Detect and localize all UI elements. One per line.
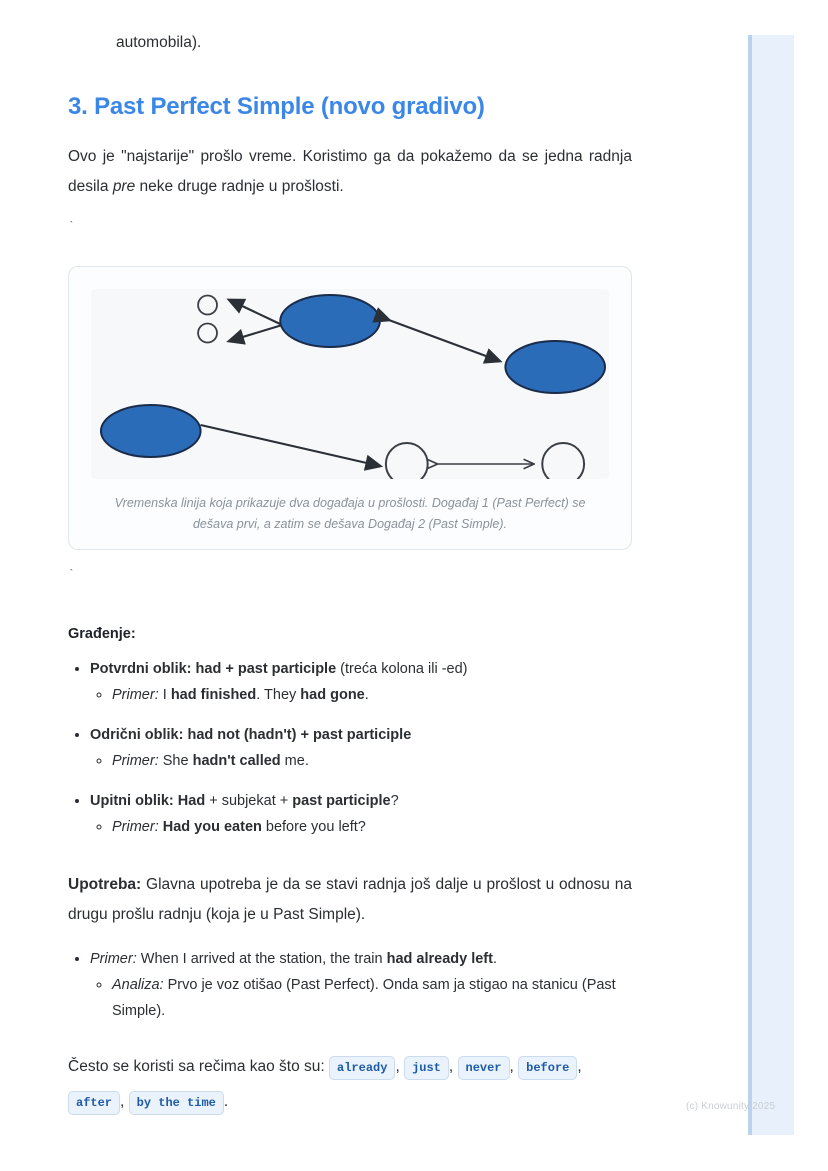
open-circle-top-1	[198, 295, 217, 314]
chip-terminator: .	[224, 1093, 228, 1110]
example-p4: .	[365, 687, 369, 703]
example-p3: had gone	[300, 687, 364, 703]
form-label-interrogative: Upitni oblik: Had	[90, 793, 205, 809]
keyword-chip: by the time	[129, 1091, 224, 1115]
usage-label: Upotreba:	[68, 876, 141, 893]
list-item: Primer: Had you eaten before you left?	[112, 814, 632, 840]
right-edge-decorative-band	[748, 35, 794, 1135]
usage-example-list: Primer: When I arrived at the station, t…	[68, 946, 632, 1024]
list-item: Primer: She hadn't called me.	[112, 748, 632, 774]
document-page: automobila). 3. Past Perfect Simple (nov…	[0, 0, 700, 1120]
construction-list: Potvrdni oblik: had + past participle (t…	[68, 656, 632, 840]
example-label: Primer:	[90, 951, 137, 967]
figure-caption: Vremenska linija koja prikazuje dva doga…	[91, 493, 609, 535]
form-bold-interrogative: past participle	[292, 793, 390, 809]
usage-example-p2: .	[493, 951, 497, 967]
page-title: 3. Past Perfect Simple (novo gradivo)	[68, 93, 632, 122]
continuation-text: automobila).	[116, 30, 632, 55]
arrow-long-bottom	[201, 425, 380, 466]
example-p2: before you left?	[262, 819, 366, 835]
example-p2: me.	[281, 753, 309, 769]
example-p1: had finished	[171, 687, 256, 703]
analysis-label: Analiza:	[112, 977, 164, 993]
open-circle-bottom-1	[386, 443, 428, 479]
keyword-chip: already	[329, 1056, 395, 1080]
stray-backtick-2: `	[68, 566, 632, 584]
usage-text: Glavna upotreba je da se stavi radnja jo…	[68, 876, 632, 923]
list-item: Analiza: Prvo je voz otišao (Past Perfec…	[112, 972, 632, 1024]
figure-card: Vremenska linija koja prikazuje dva doga…	[68, 266, 632, 550]
form-mid-interrogative: + subjekat +	[205, 793, 292, 809]
chip-separator: ,	[510, 1058, 519, 1075]
chip-separator: ,	[395, 1058, 404, 1075]
usage-example-p1: had already left	[387, 951, 493, 967]
analysis-text: Prvo je voz otišao (Past Perfect). Onda …	[112, 977, 616, 1019]
form-label-negative: Odrični oblik: had not (hadn't) + past p…	[90, 727, 411, 743]
blue-ellipse-top-center	[280, 295, 380, 347]
sub-list: Primer: Had you eaten before you left?	[90, 814, 632, 840]
sub-list: Primer: She hadn't called me.	[90, 748, 632, 774]
keyword-chip: just	[404, 1056, 449, 1080]
open-circle-top-2	[198, 323, 217, 342]
arrow-diagonal-right	[389, 320, 500, 361]
sub-list: Primer: I had finished. They had gone.	[90, 682, 632, 708]
keywords-lead: Često se koristi sa rečima kao što su:	[68, 1058, 329, 1075]
chip-separator: ,	[120, 1093, 129, 1110]
example-p2: . They	[256, 687, 300, 703]
construction-label: Građenje:	[68, 626, 632, 642]
example-p0: I	[159, 687, 171, 703]
intro-part-2: neke druge radnje u prošlosti.	[135, 178, 344, 195]
usage-paragraph: Upotreba: Glavna upotreba je da se stavi…	[68, 870, 632, 930]
example-label: Primer:	[112, 753, 159, 769]
arrow-to-circle-1	[229, 300, 282, 325]
list-item: Upitni oblik: Had + subjekat + past part…	[90, 788, 632, 840]
example-p1: hadn't called	[193, 753, 281, 769]
blue-ellipse-lower-left	[101, 405, 201, 457]
example-label: Primer:	[112, 819, 159, 835]
copyright-watermark: (c) Knowunity 2025	[686, 1101, 775, 1112]
example-label: Primer:	[112, 687, 159, 703]
keyword-chip: never	[458, 1056, 510, 1080]
list-item: Odrični oblik: had not (hadn't) + past p…	[90, 722, 632, 774]
list-item: Primer: When I arrived at the station, t…	[90, 946, 632, 1024]
chip-separator: ,	[577, 1058, 581, 1075]
example-p1: Had you eaten	[163, 819, 262, 835]
keyword-chip: after	[68, 1091, 120, 1115]
sub-list: Analiza: Prvo je voz otišao (Past Perfec…	[90, 972, 632, 1024]
example-p0: She	[159, 753, 193, 769]
blue-ellipse-right	[505, 341, 605, 393]
arrow-to-circle-2	[229, 325, 282, 341]
list-item: Potvrdni oblik: had + past participle (t…	[90, 656, 632, 708]
form-note-affirmative: (treća kolona ili -ed)	[336, 661, 467, 677]
keyword-chip: before	[518, 1056, 577, 1080]
keywords-paragraph: Često se koristi sa rečima kao što su: a…	[68, 1050, 632, 1120]
stray-backtick-1: `	[68, 218, 632, 236]
open-circle-bottom-2	[542, 443, 584, 479]
form-end-interrogative: ?	[391, 793, 399, 809]
intro-paragraph: Ovo je "najstarije" prošlo vreme. Korist…	[68, 142, 632, 202]
list-item: Primer: I had finished. They had gone.	[112, 682, 632, 708]
form-label-affirmative: Potvrdni oblik: had + past participle	[90, 661, 336, 677]
timeline-diagram-svg	[91, 289, 609, 479]
usage-example-p0: When I arrived at the station, the train	[137, 951, 387, 967]
intro-emphasis: pre	[113, 178, 135, 195]
chip-separator: ,	[449, 1058, 458, 1075]
timeline-diagram-image	[91, 289, 609, 479]
